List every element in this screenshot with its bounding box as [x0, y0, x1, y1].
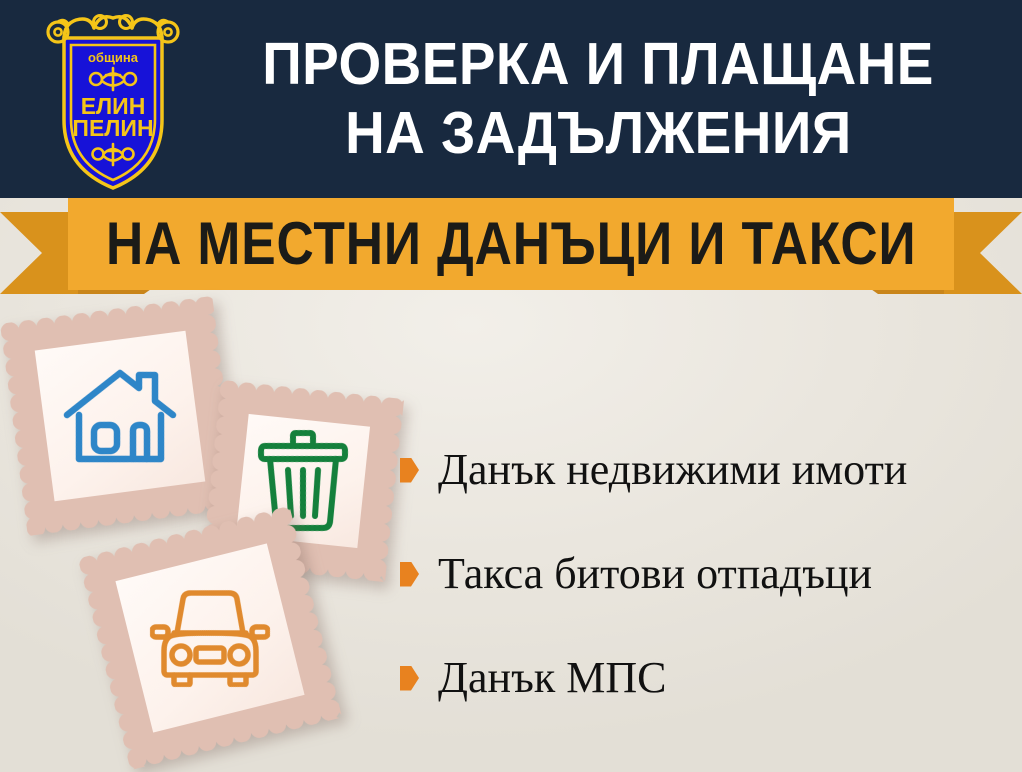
car-icon	[150, 589, 270, 687]
stamp-house	[10, 306, 230, 526]
stamp-car	[89, 517, 331, 759]
bullet-arrow-icon	[400, 666, 419, 691]
poster-canvas: община ЕЛИН ПЕЛИН	[0, 0, 1022, 772]
crest-label-line2: ПЕЛИН	[72, 115, 153, 141]
list-item[interactable]: Данък МПС	[400, 626, 1010, 730]
list-item[interactable]: Такса битови отпадъци	[400, 522, 1010, 626]
coat-of-arms: община ЕЛИН ПЕЛИН	[38, 8, 188, 194]
stamp-paper	[35, 331, 206, 502]
crest-label-top: община	[88, 50, 139, 65]
list-item-label: Данък МПС	[438, 653, 666, 703]
page-title-line-2: НА ЗАДЪЛЖЕНИЯ	[345, 99, 852, 168]
house-icon	[61, 361, 179, 471]
ribbon-band: НА МЕСТНИ ДАНЪЦИ И ТАКСИ	[68, 198, 954, 290]
ribbon-text: НА МЕСТНИ ДАНЪЦИ И ТАКСИ	[106, 214, 916, 274]
list-item-label: Такса битови отпадъци	[438, 549, 872, 599]
header-banner: община ЕЛИН ПЕЛИН	[0, 0, 1022, 198]
list-item[interactable]: Данък недвижими имоти	[400, 418, 1010, 522]
subtitle-ribbon: НА МЕСТНИ ДАНЪЦИ И ТАКСИ	[0, 198, 1022, 306]
tax-types-list: Данък недвижими имоти Такса битови отпад…	[400, 418, 1010, 730]
page-title-line-1: ПРОВЕРКА И ПЛАЩАНЕ	[262, 30, 934, 99]
bullet-arrow-icon	[400, 562, 419, 587]
page-title: ПРОВЕРКА И ПЛАЩАНЕ НА ЗАДЪЛЖЕНИЯ	[192, 0, 1004, 198]
coat-of-arms-svg: община ЕЛИН ПЕЛИН	[38, 8, 188, 194]
bullet-arrow-icon	[400, 458, 419, 483]
list-item-label: Данък недвижими имоти	[438, 445, 907, 495]
